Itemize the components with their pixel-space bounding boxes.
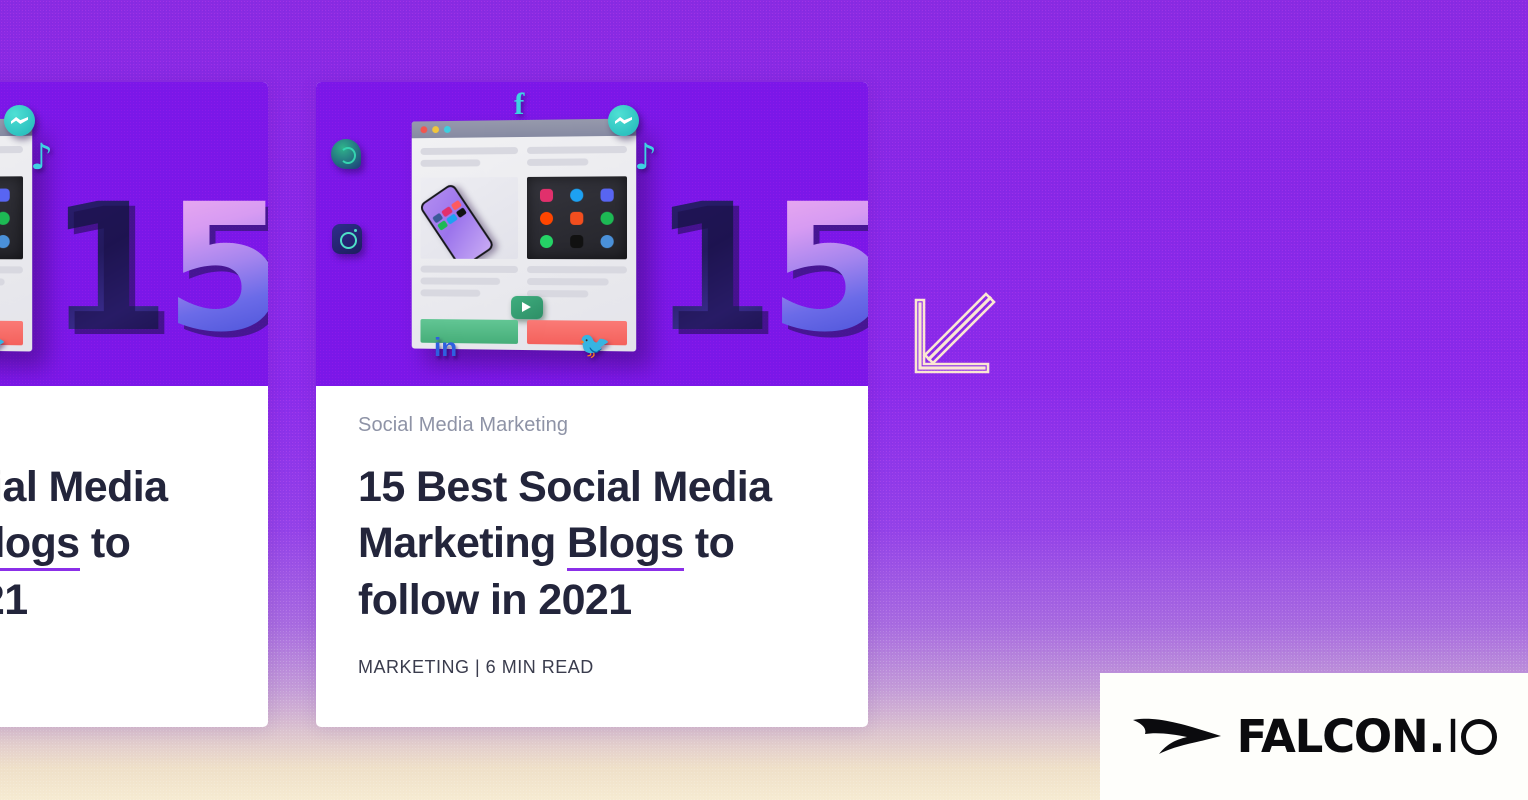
hero-number-digit-5: 5: [768, 200, 868, 337]
article-title-line-1: 15 Best Social Media: [358, 463, 771, 511]
article-meta: MARKETING | 6 MIN READ: [358, 657, 826, 678]
app-icon-grid: [533, 184, 621, 251]
logo-letter-o-circle: [1461, 719, 1497, 755]
article-card-body: Social Media Marketing 15 Best Social Me…: [316, 386, 868, 678]
play-button-icon: [511, 296, 543, 319]
hero-number-digit-1: 1: [48, 200, 164, 337]
article-meta: MARKETING | 6 MIN READ: [0, 657, 226, 678]
browser-window-mockup: [0, 118, 32, 351]
whatsapp-icon: [331, 139, 361, 169]
article-title-link-blogs[interactable]: Blogs: [0, 515, 80, 571]
facebook-icon: f: [514, 88, 524, 119]
logo-dot: .: [1428, 710, 1444, 763]
logo-text-i: I: [1446, 710, 1458, 763]
messenger-icon: [4, 105, 35, 136]
browser-window-mockup: [412, 118, 636, 351]
article-title[interactable]: 15 Best Social Media Marketing Blogs to …: [0, 459, 226, 628]
instagram-icon: [332, 224, 362, 254]
phone-app-grid: [432, 200, 467, 231]
smartphone-mockup: [420, 182, 495, 259]
browser-skeleton-bottom: [0, 266, 23, 298]
article-category: Social Media Marketing: [0, 414, 226, 437]
article-title[interactable]: 15 Best Social Media Marketing Blogs to …: [358, 459, 826, 628]
falcon-wing-icon: [1131, 714, 1223, 760]
article-hero-illustration: f ♪ in 🐦 1 5: [0, 82, 268, 386]
twitter-icon: 🐦: [578, 332, 608, 356]
dark-app-grid-pane: [0, 176, 23, 259]
hero-number-badge: 1 5: [652, 200, 868, 337]
arrow-down-left-outline-icon: [912, 292, 996, 376]
app-icon-grid: [0, 184, 17, 251]
hero-number-digit-5: 5: [164, 200, 268, 337]
browser-skeleton-bottom: [420, 266, 627, 298]
phone-pane: [420, 177, 518, 259]
article-title-link-blogs[interactable]: Blogs: [567, 515, 683, 571]
article-card-left-clipped[interactable]: f ♪ in 🐦 1 5 Social Media Marketing 15 B…: [0, 82, 268, 727]
browser-content-panes: [0, 176, 23, 259]
logo-text-falcon: FALCON: [1237, 710, 1428, 763]
falcon-io-logo-box: FALCON.I: [1100, 673, 1528, 800]
article-title-line-3: follow in 2021: [0, 576, 28, 624]
linkedin-icon: in: [434, 334, 457, 360]
hero-number-badge: 1 5: [48, 200, 268, 337]
traffic-light-red-icon: [420, 126, 427, 133]
article-title-line-2-post: to: [684, 519, 735, 567]
twitter-icon: 🐦: [0, 332, 4, 356]
article-title-line-1: 15 Best Social Media: [0, 463, 167, 511]
traffic-light-yellow-icon: [432, 126, 439, 133]
article-hero-illustration: f ♪ in 🐦 1 5: [316, 82, 868, 386]
article-title-line-3: follow in 2021: [358, 576, 632, 624]
article-title-line-2-post: to: [80, 519, 131, 567]
browser-skeleton-top: [0, 136, 32, 167]
article-card-main[interactable]: f ♪ in 🐦 1 5 Social Media Marketing 15 B…: [316, 82, 868, 727]
browser-content-panes: [420, 176, 627, 259]
traffic-light-teal-icon: [444, 126, 451, 133]
falcon-io-wordmark: FALCON.I: [1237, 710, 1498, 763]
messenger-icon: [608, 105, 639, 136]
dark-app-grid-pane: [527, 176, 627, 259]
article-card-body: Social Media Marketing 15 Best Social Me…: [0, 386, 268, 678]
browser-skeleton-top: [412, 136, 636, 167]
article-title-line-2-pre: Marketing: [358, 519, 567, 567]
bottom-bar-red: [527, 320, 627, 345]
hero-number-digit-1: 1: [652, 200, 768, 337]
article-category: Social Media Marketing: [358, 414, 826, 437]
